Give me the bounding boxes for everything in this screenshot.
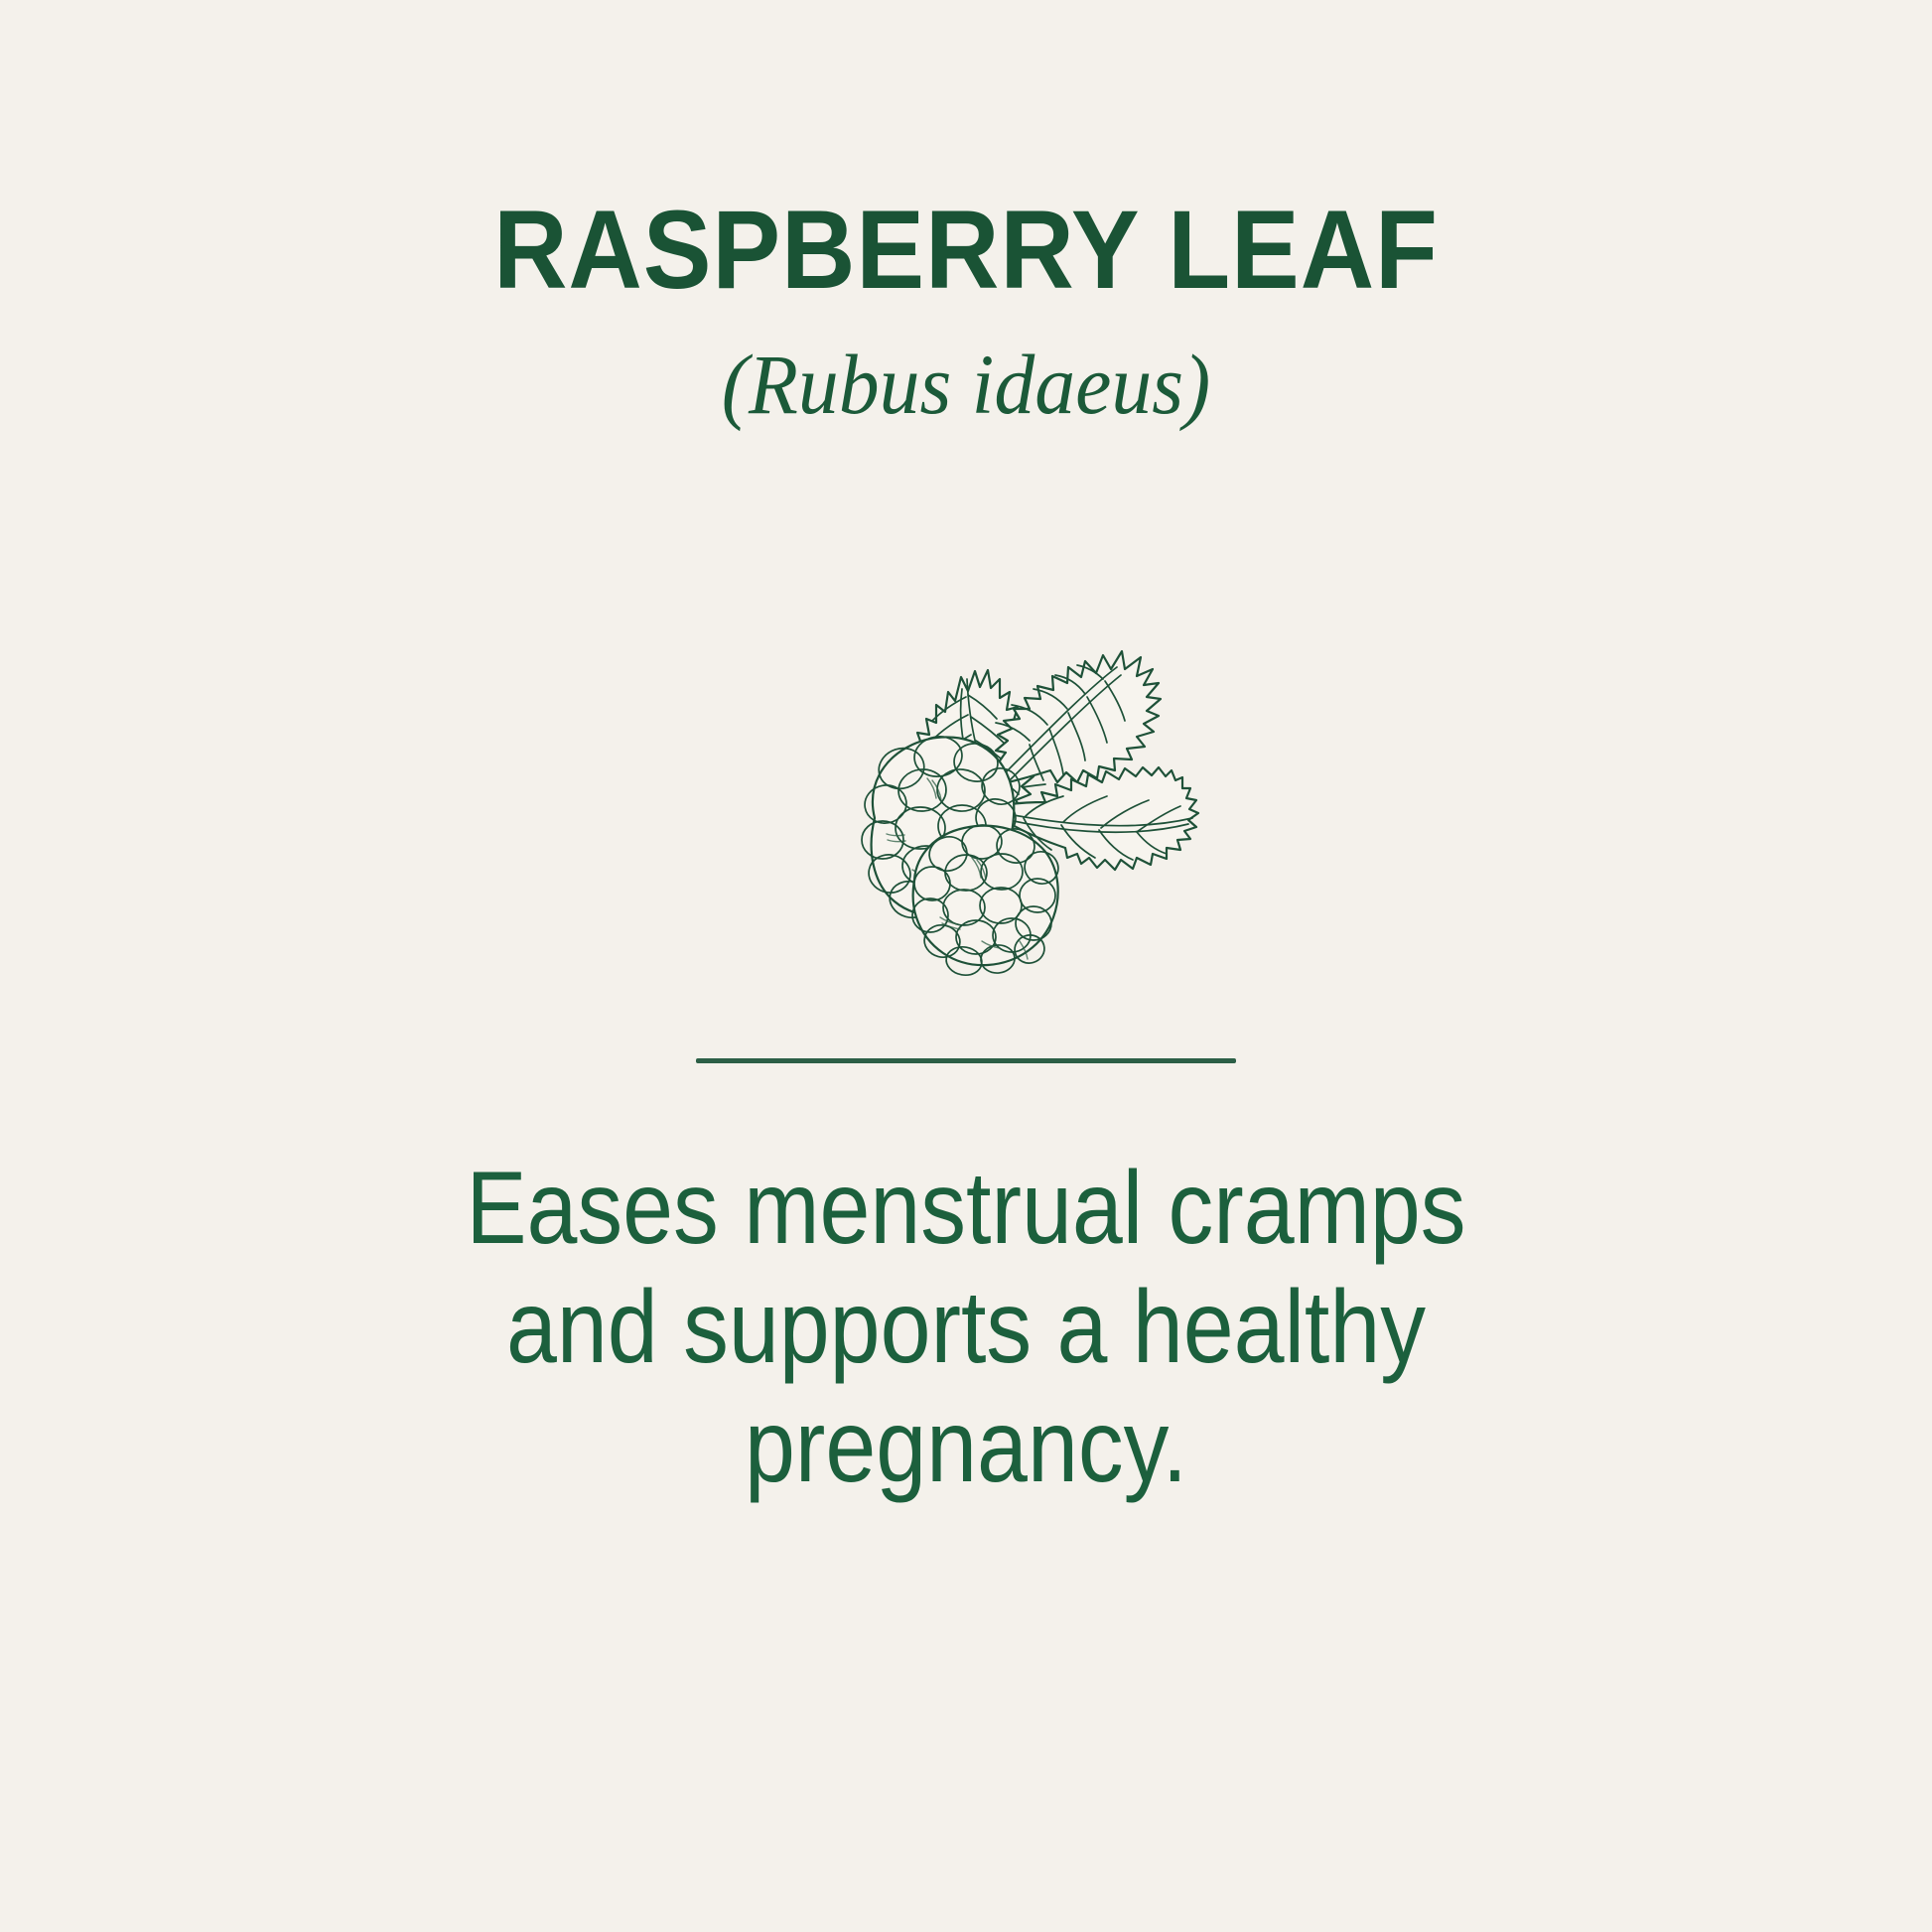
page-title: RASPBERRY LEAF xyxy=(77,195,1855,306)
herb-info-card: RASPBERRY LEAF (Rubus idaeus) xyxy=(0,0,1932,1932)
benefit-line-2: and supports a healthy xyxy=(320,1268,1612,1387)
berry-right xyxy=(912,824,1062,978)
botanical-name-subtitle: (Rubus idaeus) xyxy=(49,342,1884,427)
raspberry-leaf-illustration xyxy=(688,520,1244,997)
benefit-line-3: pregnancy. xyxy=(320,1387,1612,1506)
divider xyxy=(696,1058,1236,1063)
card-header: RASPBERRY LEAF (Rubus idaeus) xyxy=(0,195,1932,427)
benefit-line-1: Eases menstrual cramps xyxy=(320,1149,1612,1268)
leaf-upper-right xyxy=(991,651,1161,786)
raspberry-leaf-icon xyxy=(688,520,1244,997)
benefit-description: Eases menstrual cramps and supports a he… xyxy=(320,1149,1612,1506)
